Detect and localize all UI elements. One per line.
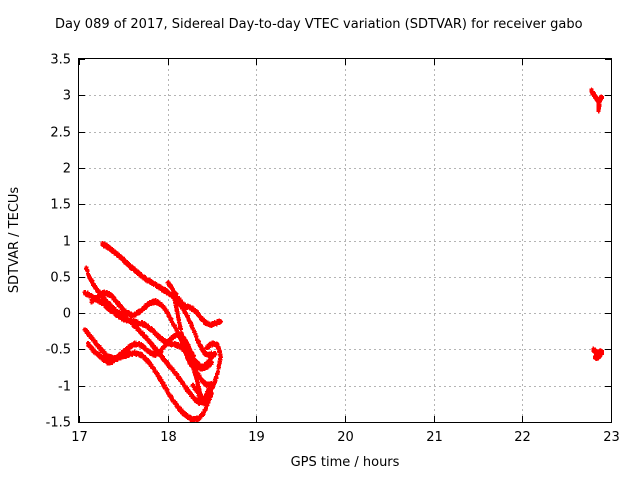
scatter-plot: 17181920212223 -1.5-1-0.500.511.522.533.…: [0, 0, 640, 480]
x-tick-label: 20: [337, 430, 354, 445]
x-tick-label: 23: [603, 430, 620, 445]
y-tick-label: 0.5: [50, 271, 71, 286]
x-axis-title: GPS time / hours: [291, 455, 400, 470]
y-tick-label: 3.5: [50, 53, 71, 68]
x-tick-label: 22: [514, 430, 531, 445]
x-tick-label: 19: [248, 430, 265, 445]
y-tick-label: -1: [58, 380, 71, 395]
figure-canvas: Day 089 of 2017, Sidereal Day-to-day VTE…: [0, 0, 640, 480]
x-tick-label: 21: [426, 430, 443, 445]
y-axis-title: SDTVAR / TECUs: [7, 187, 22, 294]
y-tick-label: -1.5: [46, 416, 71, 431]
x-tick-label: 17: [71, 430, 88, 445]
y-tick-labels: -1.5-1-0.500.511.522.533.5: [46, 53, 71, 431]
y-tick-label: 3: [63, 89, 71, 104]
y-tick-label: 1: [63, 235, 71, 250]
y-tick-label: 2: [63, 162, 71, 177]
y-tick-label: 2.5: [50, 126, 71, 141]
y-tick-label: 1.5: [50, 198, 71, 213]
x-tick-label: 18: [160, 430, 177, 445]
y-tick-label: -0.5: [46, 343, 71, 358]
x-tick-labels: 17181920212223: [71, 430, 620, 445]
data-markers: [82, 87, 604, 423]
y-tick-label: 0: [63, 307, 71, 322]
grid-lines: [79, 59, 611, 422]
